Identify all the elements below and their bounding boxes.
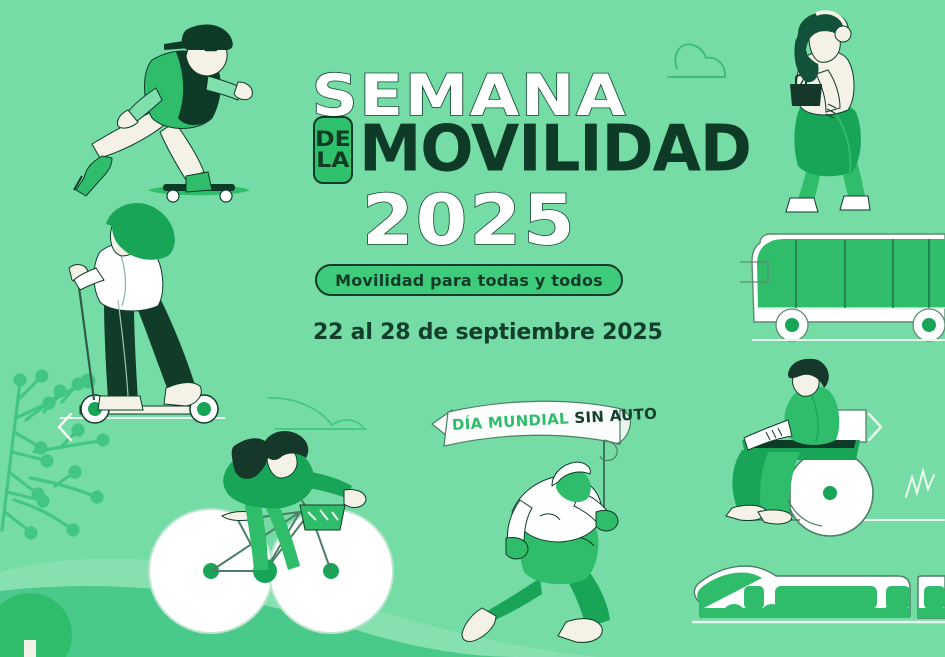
promo-banner-slide: SEMANA DE LA MOVILIDAD 2025 Movilidad pa… — [0, 0, 945, 657]
cyclist-illustration — [149, 431, 393, 633]
badge-de-la: DE LA — [313, 116, 353, 184]
chevron-left-icon[interactable] — [53, 410, 77, 444]
hero-subtitle-text: Movilidad para todas y todos — [335, 271, 603, 290]
hero-subtitle-pill: Movilidad para todas y todos — [315, 264, 623, 296]
hero-title-movilidad: MOVILIDAD — [359, 118, 751, 182]
hero-date-range: 22 al 28 de septiembre 2025 — [313, 320, 628, 345]
train-illustration — [692, 566, 945, 622]
skateboarder-illustration — [74, 25, 252, 202]
hero-title-year: 2025 — [294, 186, 645, 255]
carousel-next-button[interactable] — [858, 404, 892, 450]
bus-illustration — [740, 234, 945, 341]
scooter-rider-illustration — [60, 203, 225, 423]
wheelchair-user-illustration — [726, 359, 873, 536]
hero-title-movilidad-row: DE LA MOVILIDAD — [313, 116, 628, 184]
carousel-prev-button[interactable] — [48, 404, 82, 450]
badge-line-la: LA — [316, 150, 349, 171]
chevron-right-icon[interactable] — [863, 410, 887, 444]
badge-line-de: DE — [315, 129, 351, 150]
walking-woman-headphones-illustration — [786, 12, 870, 212]
runner-illustration — [462, 432, 618, 642]
